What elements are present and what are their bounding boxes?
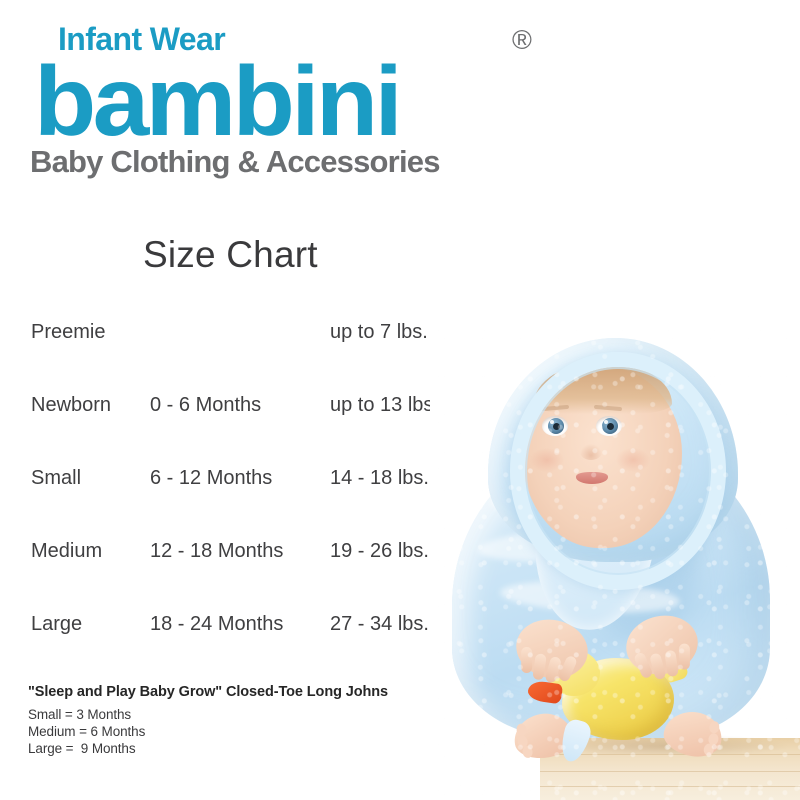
page-title: Size Chart (143, 236, 318, 273)
toe (708, 721, 720, 734)
size-chart-page: Infant Wear bambini ® Baby Clothing & Ac… (0, 0, 800, 800)
brand-wordmark: bambini (34, 52, 399, 150)
table-row: Small 6 - 12 Months 14 - 18 lbs. (0, 468, 470, 541)
hood-fur-trim (510, 352, 726, 590)
cell-size: Medium (31, 541, 102, 561)
cell-size: Newborn (31, 395, 111, 415)
cell-age: 0 - 6 Months (150, 395, 261, 415)
product-photo-baby-in-robe (430, 320, 800, 800)
footnote-list: Small = 3 Months Medium = 6 Months Large… (28, 706, 458, 757)
cell-weight: 27 - 34 lbs. (330, 614, 429, 634)
footnote-title: "Sleep and Play Baby Grow" Closed-Toe Lo… (28, 684, 458, 701)
finger (521, 647, 532, 673)
table-row: Newborn 0 - 6 Months up to 13 lbs. (0, 395, 470, 468)
registered-trademark-icon: ® (512, 27, 532, 54)
footnote-line: Large = 9 Months (28, 740, 458, 757)
table-row: Medium 12 - 18 Months 19 - 26 lbs. (0, 541, 470, 614)
footnote-line: Small = 3 Months (28, 706, 458, 723)
footnote-line: Medium = 6 Months (28, 723, 458, 740)
cell-age: 6 - 12 Months (150, 468, 272, 488)
brand-tagline: Baby Clothing & Accessories (30, 146, 440, 177)
cell-size: Preemie (31, 322, 105, 342)
cell-weight: 14 - 18 lbs. (330, 468, 429, 488)
cell-age: 12 - 18 Months (150, 541, 283, 561)
floor-plank-line (540, 786, 800, 787)
cell-weight: up to 13 lbs. (330, 395, 439, 415)
cell-age: 18 - 24 Months (150, 614, 283, 634)
table-row: Large 18 - 24 Months 27 - 34 lbs. (0, 614, 470, 687)
cell-size: Small (31, 468, 81, 488)
cell-weight: 19 - 26 lbs. (330, 541, 429, 561)
finger (679, 644, 690, 670)
table-row: Preemie up to 7 lbs. (0, 322, 470, 395)
floor-plank-line (540, 771, 800, 772)
cell-weight: up to 7 lbs. (330, 322, 428, 342)
brand-logo: Infant Wear bambini ® Baby Clothing & Ac… (0, 0, 560, 195)
toe (516, 723, 528, 737)
size-chart-table: Preemie up to 7 lbs. Newborn 0 - 6 Month… (0, 322, 470, 687)
footnote-block: "Sleep and Play Baby Grow" Closed-Toe Lo… (28, 684, 458, 757)
cell-size: Large (31, 614, 82, 634)
finger (664, 650, 679, 677)
